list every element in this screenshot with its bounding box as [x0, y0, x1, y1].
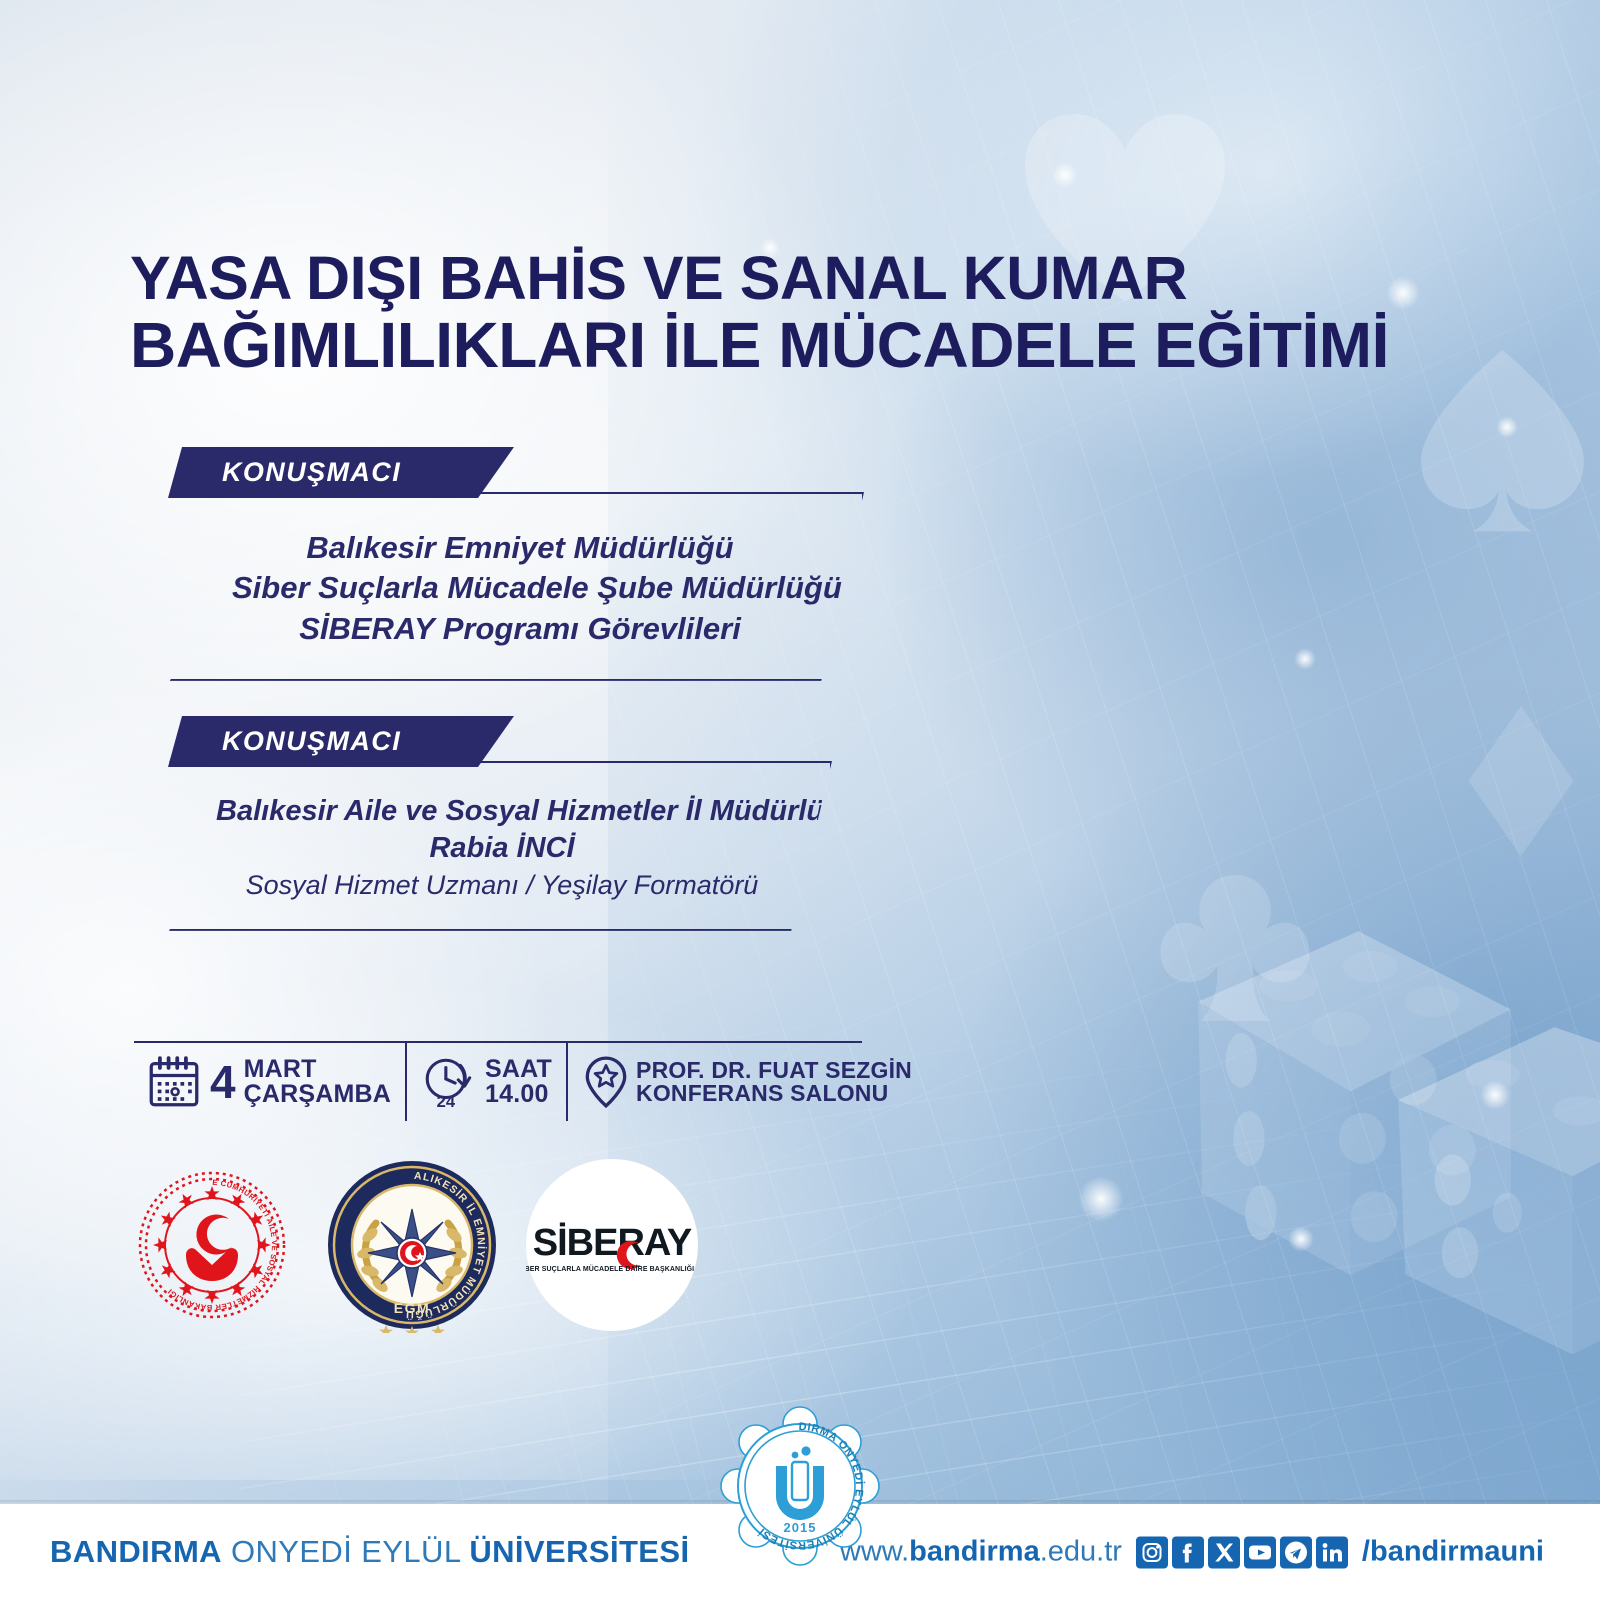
dice-two-icon: [1380, 980, 1600, 1380]
speaker-2-line-3: Sosyal Hizmet Uzmanı / Yeşilay Formatörü: [216, 868, 788, 903]
footer-uni-bold-2: ÜNİVERSİTESİ: [469, 1534, 689, 1569]
sparkle-1: [1052, 162, 1078, 188]
facebook-icon[interactable]: [1172, 1536, 1204, 1568]
footer-uni-bold-1: BANDIRMA: [50, 1534, 222, 1569]
website-bold: bandirma: [909, 1536, 1040, 1568]
event-info-bar: 4 MART ÇARŞAMBA 24 SAAT 14.00: [134, 1041, 862, 1121]
speaker-block-1: KONUŞMACI Balıkesir Emniyet Müdürlüğü Si…: [152, 447, 864, 681]
svg-text:EGM: EGM: [394, 1300, 430, 1316]
social-icons: [1136, 1536, 1348, 1568]
partner-logos: TÜRKİYE CUMHURİYETİ AİLE VE SOSYAL HİZME…: [126, 1157, 698, 1333]
diamond-suit-icon: [1466, 706, 1576, 856]
svg-text:24: 24: [437, 1092, 456, 1109]
balikesir-il-emniyet-mudurlugu-logo: BALIKESİR İL EMNİYET MÜDÜRLÜĞÜ: [324, 1157, 500, 1333]
bandirma-onyedi-eylul-universitesi-seal: BANDIRMA ONYEDİ EYLÜL ÜNİVERSİTESİ 2015: [720, 1406, 880, 1566]
footer-contact: www.bandirma.edu.tr /bandirmauni: [840, 1536, 1544, 1569]
svg-text:SİBER SUÇLARLA MÜCADELE DAİRE: SİBER SUÇLARLA MÜCADELE DAİRE BAŞKANLIĞI: [526, 1264, 694, 1273]
sparkle-5: [1288, 1226, 1314, 1252]
linkedin-icon[interactable]: [1316, 1536, 1348, 1568]
info-cell-date: 4 MART ÇARŞAMBA: [134, 1043, 405, 1121]
event-day-number: 4: [210, 1059, 236, 1105]
map-pin-star-icon: [582, 1055, 630, 1109]
x-twitter-icon[interactable]: [1208, 1536, 1240, 1568]
venue-line-2: KONFERANS SALONU: [636, 1082, 912, 1105]
event-month: MART: [244, 1057, 391, 1083]
speaker-1-line-1: Balıkesir Emniyet Müdürlüğü: [232, 528, 808, 568]
website-suffix: .edu.tr: [1040, 1536, 1122, 1568]
svg-text:SİBERAY: SİBERAY: [533, 1222, 692, 1264]
footer-social-handle[interactable]: /bandirmauni: [1362, 1536, 1544, 1569]
clock-24-icon: 24: [421, 1055, 479, 1109]
speaker-tag-1: KONUŞMACI: [168, 447, 514, 498]
page-title: YASA DIŞI BAHİS VE SANAL KUMAR BAĞIMLILI…: [130, 247, 1510, 379]
sparkle-8: [1496, 416, 1518, 438]
title-line-2: BAĞIMLILIKLARI İLE MÜCADELE EĞİTİMİ: [130, 312, 1510, 379]
sparkle-4: [1078, 1176, 1124, 1222]
venue-line-1: PROF. DR. FUAT SEZGİN: [636, 1059, 912, 1082]
telegram-icon[interactable]: [1280, 1536, 1312, 1568]
footer-website[interactable]: www.bandirma.edu.tr: [840, 1536, 1122, 1569]
title-line-1: YASA DIŞI BAHİS VE SANAL KUMAR: [130, 247, 1510, 310]
sparkle-6: [1480, 1080, 1510, 1110]
speaker-body-1: Balıkesir Emniyet Müdürlüğü Siber Suçlar…: [152, 492, 864, 681]
svg-text:2015: 2015: [784, 1520, 817, 1535]
event-time-value: 14.00: [485, 1082, 552, 1108]
speaker-2-line-2: Rabia İNCİ: [216, 830, 788, 868]
calendar-icon: [148, 1056, 200, 1108]
speaker-2-line-1: Balıkesir Aile ve Sosyal Hizmetler İl Mü…: [216, 793, 788, 830]
speaker-block-2: KONUŞMACI Balıkesir Aile ve Sosyal Hizme…: [152, 716, 832, 931]
youtube-icon[interactable]: [1244, 1536, 1276, 1568]
info-cell-venue: PROF. DR. FUAT SEZGİN KONFERANS SALONU: [566, 1043, 926, 1121]
event-time-label: SAAT: [485, 1057, 552, 1083]
speaker-tag-2: KONUŞMACI: [168, 716, 514, 767]
aile-ve-sosyal-hizmetler-bakanligi-logo: TÜRKİYE CUMHURİYETİ AİLE VE SOSYAL HİZME…: [126, 1159, 298, 1331]
siberay-logo: SİBERAY SİBER SUÇLARLA MÜCADELE DAİRE BA…: [526, 1159, 698, 1331]
speaker-body-2: Balıkesir Aile ve Sosyal Hizmetler İl Mü…: [152, 761, 832, 931]
event-weekday: ÇARŞAMBA: [244, 1082, 391, 1108]
speaker-1-line-2: Siber Suçlarla Mücadele Şube Müdürlüğü: [232, 568, 808, 608]
info-cell-time: 24 SAAT 14.00: [405, 1043, 566, 1121]
speaker-1-line-3: SİBERAY Programı Görevlileri: [232, 609, 808, 649]
poster-canvas: YASA DIŞI BAHİS VE SANAL KUMAR BAĞIMLILI…: [0, 0, 1600, 1600]
footer-uni-light: ONYEDİ EYLÜL: [222, 1534, 469, 1569]
footer-university-name: BANDIRMA ONYEDİ EYLÜL ÜNİVERSİTESİ: [50, 1534, 689, 1570]
instagram-icon[interactable]: [1136, 1536, 1168, 1568]
sparkle-3: [1294, 648, 1316, 670]
